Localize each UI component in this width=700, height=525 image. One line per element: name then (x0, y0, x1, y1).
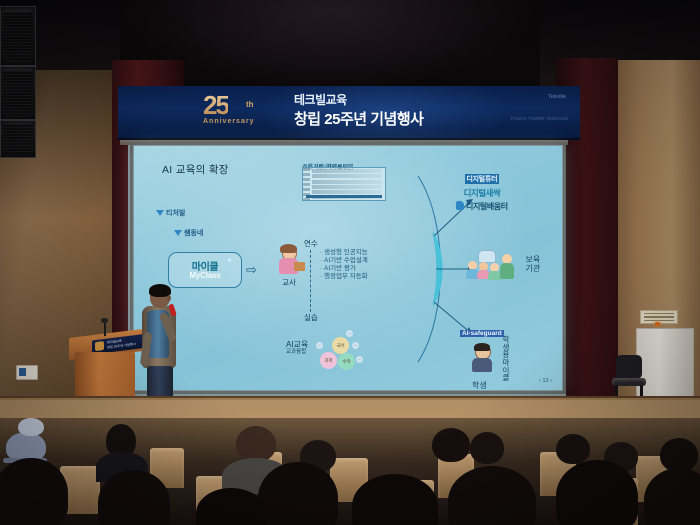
status-led-indicator (655, 322, 660, 326)
banner-line2: 창립 25주년 기념행사 (294, 108, 423, 129)
teacher-hair-icon (280, 244, 297, 253)
subject-bubble-korean: 국어 (332, 337, 349, 354)
flow-bullet: · AI기반 수업설계 (320, 257, 376, 265)
table-row (312, 180, 382, 184)
digital-tutor-group: 디지털튜터 디지털새싹 디지털배움터 (456, 168, 508, 212)
audience-head (18, 418, 44, 436)
childcare-illustration (464, 250, 518, 280)
subject-bubble-small: ··· (346, 330, 353, 337)
subject-bubble-small: ··· (356, 356, 363, 363)
table-row (312, 190, 382, 194)
subject-bubble-small: ··· (316, 342, 323, 349)
loudspeaker-middle (0, 66, 36, 120)
projection-screen: AI 교육의 확장 ‹ 12 › 티처빌 쌤동네 ✦ 마이클 MyClass ⇨… (134, 146, 562, 390)
loudspeaker-top (0, 6, 36, 66)
teacher-body-icon (500, 263, 514, 279)
banner-sponsor-logo: Tekville (548, 94, 566, 100)
audience-head-front (556, 460, 638, 525)
flow-connector-line (310, 250, 311, 312)
subject-sublabel: 교과융합 (286, 349, 308, 355)
anniversary-word: Anniversary (203, 118, 254, 125)
digital-sprout-label: 디지털새싹 (456, 187, 508, 199)
anniversary-number: 25 (203, 90, 228, 121)
table-row (312, 185, 382, 189)
subject-integration-diagram: AI교육 교과융합 국어 과학 수학 ··· ··· ··· ··· (286, 332, 394, 372)
digital-tutor-chip: 디지털튜터 (465, 174, 500, 184)
flow-bottom-label: 실습 (304, 312, 318, 323)
presenter-ear (167, 295, 171, 301)
student-illustration (470, 344, 494, 374)
flow-bullet: · 행정업무 자동화 (320, 273, 376, 281)
logo-mark-icon (174, 230, 182, 236)
audience-head (660, 438, 698, 472)
student-group: 학생용마이클 학생 (470, 336, 511, 390)
audience-head-front (448, 466, 536, 525)
loudspeaker-bottom (0, 120, 36, 158)
subject-label: AI교육 교과융합 (286, 340, 308, 356)
student-myclass-label: 학생용마이클 (502, 336, 511, 382)
teacher-board-icon (294, 262, 305, 271)
audience-area (0, 418, 700, 525)
audience-head (556, 434, 590, 464)
digital-tutor-chip-row: 디지털튜터 (456, 168, 508, 186)
event-banner: 25 th Anniversary 테크빌교육 창립 25주년 기념행사 Tek… (118, 86, 580, 140)
curriculum-table-image (302, 167, 386, 201)
student-label: 학생 (472, 382, 511, 390)
training-flow: 연수 · 생성형 인공지능 · AI기반 수업설계 · AI기반 평가 · 행정… (304, 238, 374, 249)
audience-head-front (258, 462, 338, 525)
logo-mark-icon (156, 210, 164, 216)
table-row (312, 174, 382, 178)
table-footer-bar (306, 195, 382, 198)
teacher-illustration: 교사 (272, 246, 306, 288)
digital-baeumteo-label: 디지털배움터 (456, 201, 508, 212)
myclass-en-label: MyClass (169, 271, 241, 280)
podium-mic-head-icon (101, 318, 108, 323)
audience-head (236, 426, 276, 462)
myclass-box: ✦ 마이클 MyClass (168, 252, 242, 288)
audience-head (432, 428, 470, 462)
childcare-group: 보육기관 (464, 250, 547, 280)
subject-bubble-science: 과학 (320, 352, 337, 369)
table-row (312, 169, 382, 173)
baeumteo-icon (456, 201, 464, 210)
student-hair-icon (474, 343, 490, 351)
flow-top-label: 연수 (304, 238, 374, 249)
podium-mic-stand (104, 322, 106, 336)
board-icon (478, 250, 496, 263)
screenshot-root: 25 th Anniversary 테크빌교육 창립 25주년 기념행사 Tek… (0, 0, 700, 525)
subject-bubble-small: ··· (352, 342, 359, 349)
teacher-label: 교사 (272, 277, 306, 288)
audience-head (470, 432, 504, 464)
flow-bullet: · AI기반 평가 (320, 265, 376, 273)
podium-plate-text: 테크빌교육창립 25주년 기념행사 (107, 337, 136, 350)
subject-bubble-math: 수학 (338, 353, 355, 370)
anniversary-suffix: th (246, 100, 254, 109)
slide-title: AI 교육의 확장 (162, 162, 229, 177)
flow-bullet: · 생성형 인공지능 (320, 249, 376, 257)
slide-page-number: ‹ 12 › (539, 378, 552, 384)
childcare-label: 보육기관 (525, 256, 547, 274)
student-body-icon (472, 358, 492, 372)
logo-teacherville: 티처빌 (156, 208, 185, 218)
chair-back (616, 355, 642, 379)
banner-line1: 테크빌교육 (294, 91, 347, 108)
podium-emblem-icon (95, 341, 104, 351)
wall-socket (16, 365, 38, 380)
flow-bullet-list: · 생성형 인공지능 · AI기반 수업설계 · AI기반 평가 · 행정업무 … (320, 249, 376, 281)
logo-ssaemdongne: 쌤동네 (174, 228, 203, 238)
banner-venue-text: POSCO TOWER YEOKSAM (510, 116, 568, 121)
arrow-to-teacher-icon: ⇨ (246, 262, 257, 278)
audience-head-front (0, 458, 68, 525)
curriculum-thumbnail: 스킬기반 역량로드맵 교육과정(커리큘럼) (302, 164, 386, 201)
